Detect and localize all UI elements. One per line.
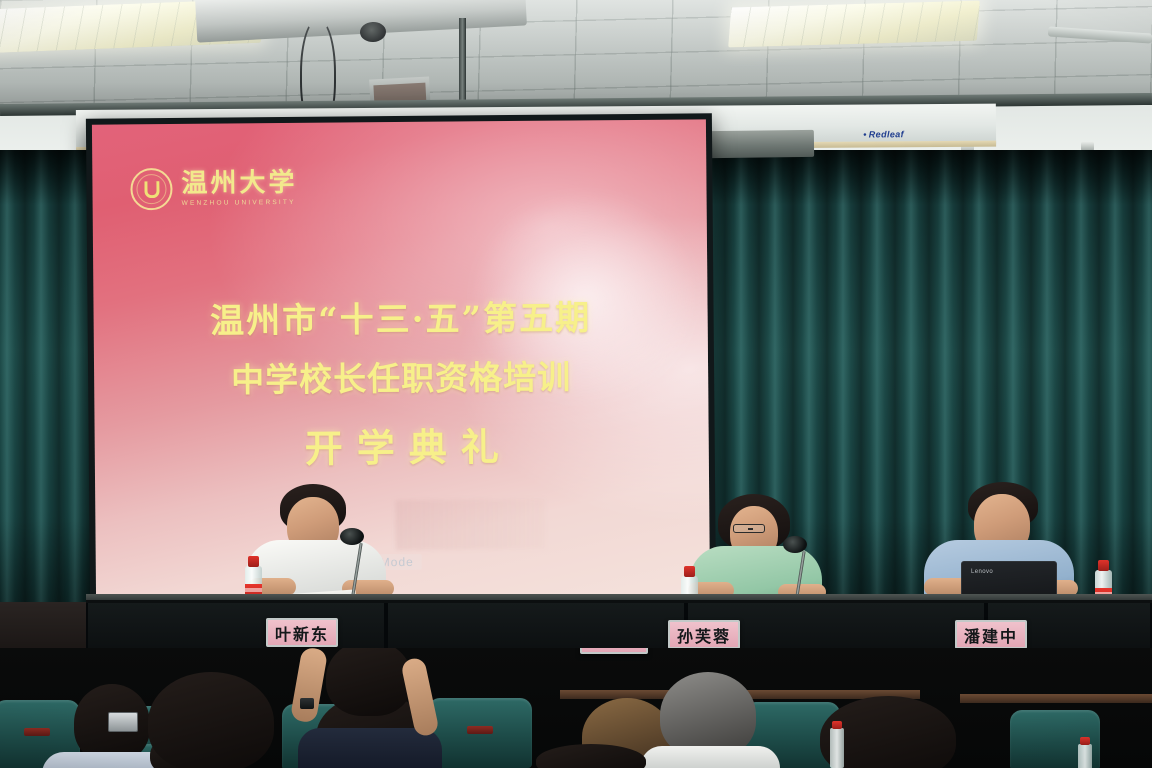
seat-number-tag — [467, 726, 493, 734]
university-name-en: WENZHOU UNIVERSITY — [182, 200, 298, 208]
university-name-cn: 温州大学 — [181, 170, 297, 197]
bottle-cap — [832, 721, 842, 729]
slide-title-block: 温州市“十三·五”第五期 中学校长任职资格培训 开学典礼 — [93, 289, 709, 474]
audience-bottle-1 — [830, 728, 844, 768]
audience-seat-4[interactable] — [428, 698, 532, 768]
mic-head-icon — [340, 528, 364, 545]
housing-brand-label: •Redleaf — [863, 129, 904, 139]
seal-mark-icon — [144, 181, 159, 198]
audience-area — [0, 648, 1152, 768]
nameplate-1-text: 叶新东 — [275, 621, 329, 645]
nameplate-2-text: 孙芙蓉 — [677, 623, 731, 647]
bottle-cap — [1080, 737, 1090, 745]
audience-camera-phone[interactable] — [108, 712, 138, 732]
audience-wristwatch — [300, 698, 314, 709]
mic-head-icon — [783, 536, 807, 553]
brand-text: Redleaf — [869, 129, 904, 139]
laptop-brand-label: Lenovo — [971, 569, 993, 575]
nameplate-panelist-1: 叶新东 — [266, 618, 338, 647]
bottle-cap — [1098, 560, 1109, 571]
slide-title-line-2: 中学校长任职资格培训 — [94, 349, 708, 402]
university-seal-icon — [130, 168, 172, 210]
screen-faint-graphic — [395, 499, 545, 550]
audience-desk-row-2 — [960, 694, 1152, 703]
brand-dot-icon: • — [863, 129, 867, 139]
slide-title-line-1: 温州市“十三·五”第五期 — [93, 289, 707, 343]
seat-number-tag — [24, 728, 50, 736]
university-logo: 温州大学 WENZHOU UNIVERSITY — [130, 167, 297, 210]
bottle-cap — [248, 556, 259, 567]
university-logo-text: 温州大学 WENZHOU UNIVERSITY — [181, 170, 297, 208]
audience-bottle-2 — [1078, 744, 1092, 768]
projection-screen-frame: 温州大学 WENZHOU UNIVERSITY 温州市“十三·五”第五期 中学校… — [86, 113, 716, 610]
nameplate-panelist-2: 孙芙蓉 — [668, 620, 740, 649]
projection-screen: 温州大学 WENZHOU UNIVERSITY 温州市“十三·五”第五期 中学校… — [92, 119, 710, 604]
bottle-cap — [684, 566, 695, 577]
audience-person-3-head — [148, 672, 274, 768]
nameplate-panelist-3: 潘建中 — [955, 620, 1027, 649]
lecture-hall-photo: •Redleaf 温州大学 WENZHOU UNIVERSITY 温州市“十三·… — [0, 0, 1152, 768]
nameplate-3-text: 潘建中 — [964, 623, 1018, 647]
slide-title-line-3: 开学典礼 — [94, 414, 708, 474]
audience-person-7-shoulders — [640, 746, 780, 768]
panelist-2-glasses-icon — [733, 524, 765, 533]
audience-person-5-head — [326, 648, 412, 716]
audience-row-nameplate — [580, 648, 648, 654]
